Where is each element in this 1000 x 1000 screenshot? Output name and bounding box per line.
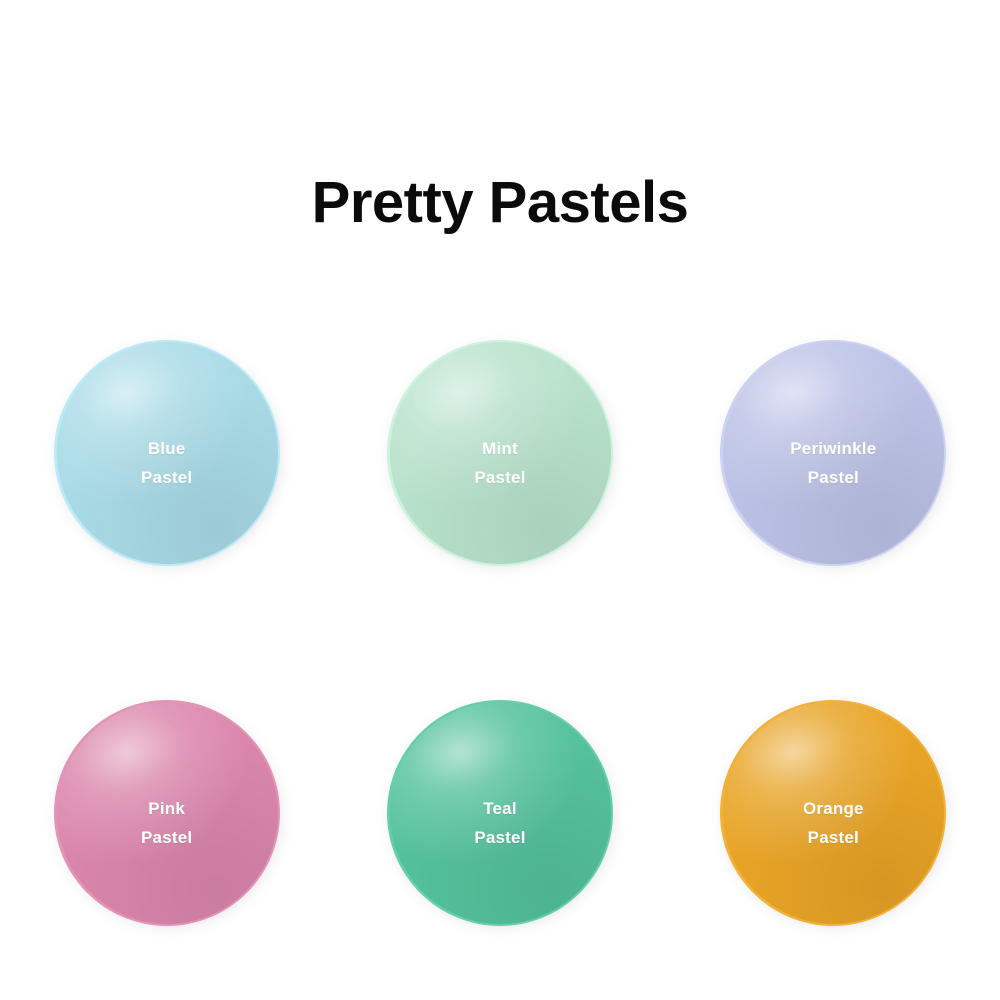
swatch-label-line1: Periwinkle <box>790 434 876 463</box>
color-palette-page: Pretty Pastels Blue Pastel Mint Pastel <box>0 0 1000 1000</box>
swatch-label: Blue Pastel <box>141 434 192 492</box>
swatch-label: Pink Pastel <box>141 794 192 852</box>
swatch-label-line1: Orange <box>803 794 864 823</box>
swatch-label: Mint Pastel <box>474 434 525 492</box>
swatch-label: Orange Pastel <box>803 794 864 852</box>
page-title: Pretty Pastels <box>0 167 1000 239</box>
color-swatch-mint[interactable]: Mint Pastel <box>387 340 613 566</box>
swatch-label-line2: Pastel <box>474 823 525 852</box>
color-swatch-teal[interactable]: Teal Pastel <box>387 700 613 926</box>
color-swatch-grid: Blue Pastel Mint Pastel Periwinkle Paste… <box>0 340 1000 926</box>
color-swatch-orange[interactable]: Orange Pastel <box>720 700 946 926</box>
swatch-label-line2: Pastel <box>803 823 864 852</box>
swatch-label: Teal Pastel <box>474 794 525 852</box>
swatch-label-line2: Pastel <box>141 463 192 492</box>
color-swatch-pink[interactable]: Pink Pastel <box>54 700 280 926</box>
color-swatch-periwinkle[interactable]: Periwinkle Pastel <box>720 340 946 566</box>
swatch-label-line2: Pastel <box>790 463 876 492</box>
color-swatch-blue[interactable]: Blue Pastel <box>54 340 280 566</box>
swatch-label-line2: Pastel <box>474 463 525 492</box>
swatch-label-line1: Mint <box>474 434 525 463</box>
swatch-label-line1: Blue <box>141 434 192 463</box>
swatch-label-line1: Pink <box>141 794 192 823</box>
swatch-label: Periwinkle Pastel <box>790 434 876 492</box>
swatch-label-line2: Pastel <box>141 823 192 852</box>
swatch-label-line1: Teal <box>474 794 525 823</box>
